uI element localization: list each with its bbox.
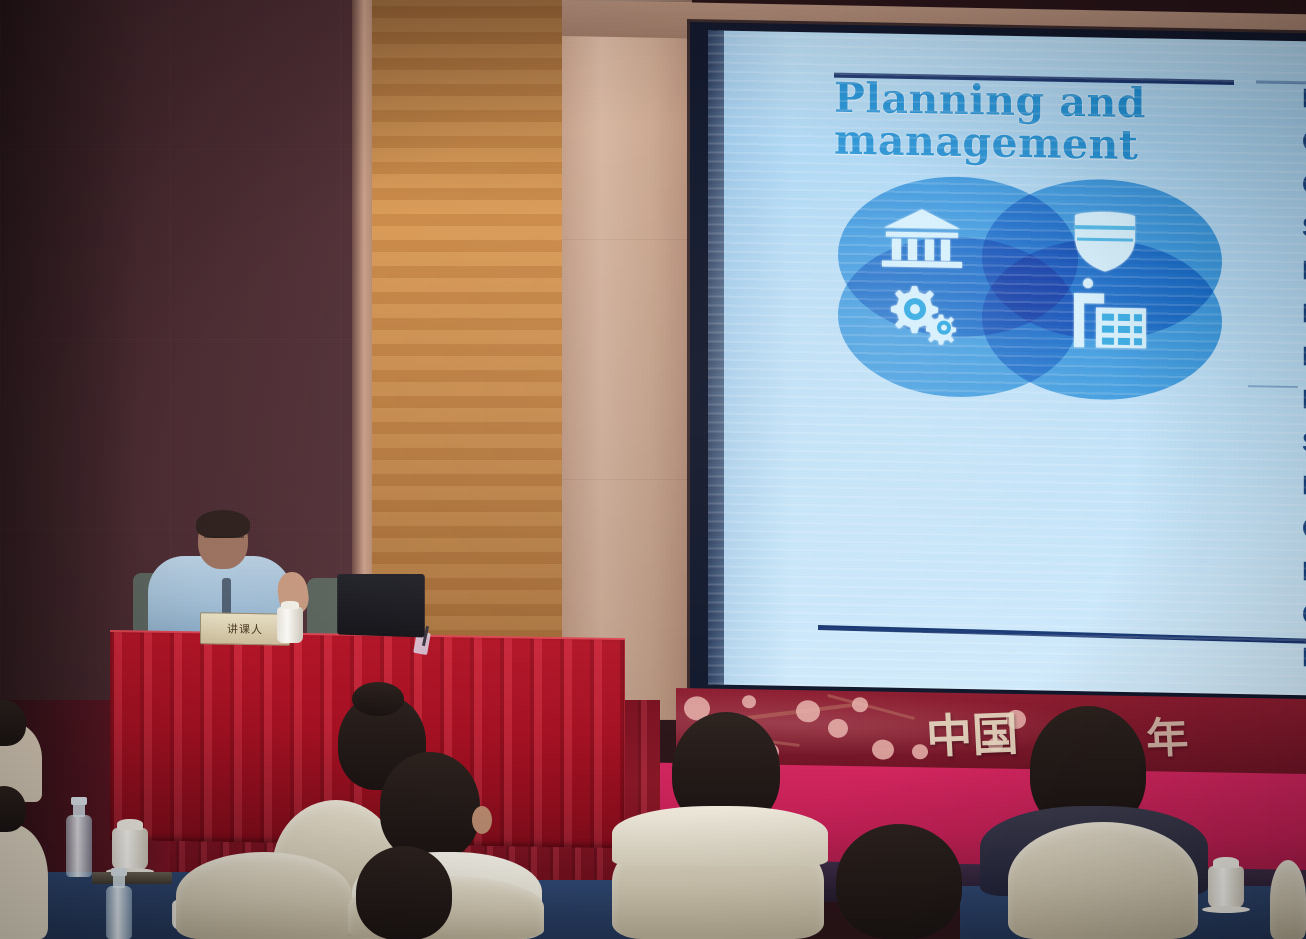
audience-chair <box>176 852 352 939</box>
glasses-icon <box>204 536 244 546</box>
slide-bullet-item: E <box>1302 472 1306 516</box>
projected-slide: Planning and management <box>708 30 1306 695</box>
audience-ear <box>472 806 492 834</box>
slide-bullet-item: L <box>1302 85 1306 129</box>
factory-building-icon <box>1066 277 1148 356</box>
notebook <box>92 872 172 884</box>
screen-left-shadow <box>708 30 724 684</box>
audience-head <box>380 752 480 860</box>
gears-icon <box>882 282 960 350</box>
blossom-icon <box>828 719 848 738</box>
venn-diagram <box>830 173 1230 390</box>
presenter-laptop <box>337 574 425 638</box>
blossom-icon <box>872 739 894 759</box>
water-bottle <box>66 815 92 877</box>
slide-bullet-item: P <box>1302 257 1306 301</box>
slide-bullet-item: C <box>1302 171 1306 215</box>
slide-bottom-rule <box>818 625 1306 644</box>
slide-bullet-item: E <box>1302 300 1306 344</box>
slide-tick-mark-2 <box>1248 385 1298 388</box>
slide-title-line-2: management <box>834 119 1254 169</box>
slide-bullet-item: E <box>1302 386 1306 430</box>
banner-calligraphy: 中国 <box>924 698 1019 767</box>
banner-calligraphy-extra: 年 <box>1144 704 1189 766</box>
slide-bullet-item: C <box>1302 515 1306 559</box>
shield-badge-icon <box>1070 207 1140 279</box>
lidded-teacup <box>112 828 148 870</box>
slide-title: Planning and management <box>834 77 1254 169</box>
blossom-icon <box>852 697 868 712</box>
beige-pilaster <box>562 0 692 720</box>
presenter-teacup <box>277 607 303 643</box>
audience-shoulders <box>612 806 828 866</box>
slide-bullet-item: C <box>1302 128 1306 172</box>
slide-bullet-list: LCCSPEPESECEGE <box>1302 85 1306 688</box>
slide-bullet-item: S <box>1302 429 1306 473</box>
blossom-icon <box>912 744 928 759</box>
slide-bullet-item: S <box>1302 214 1306 258</box>
presenter-hair <box>196 510 250 538</box>
water-bottle <box>106 886 132 939</box>
audience-chair <box>1270 860 1306 939</box>
audience-hair-bun <box>352 682 404 716</box>
blossom-icon <box>742 695 756 708</box>
blossom-icon <box>796 700 820 722</box>
bank-building-icon <box>880 205 964 274</box>
slide-bullet-item: E <box>1302 644 1306 688</box>
projection-screen-frame: Planning and management <box>690 22 1306 713</box>
lidded-teacup <box>1208 866 1244 908</box>
slide-bullet-item: P <box>1302 343 1306 387</box>
audience-chair <box>1008 822 1198 939</box>
audience-head <box>836 824 962 939</box>
slide-bullet-item: E <box>1302 558 1306 602</box>
slide-tick-mark <box>1256 80 1306 84</box>
conference-photo: Planning and management <box>0 0 1306 939</box>
audience-head <box>356 846 452 939</box>
